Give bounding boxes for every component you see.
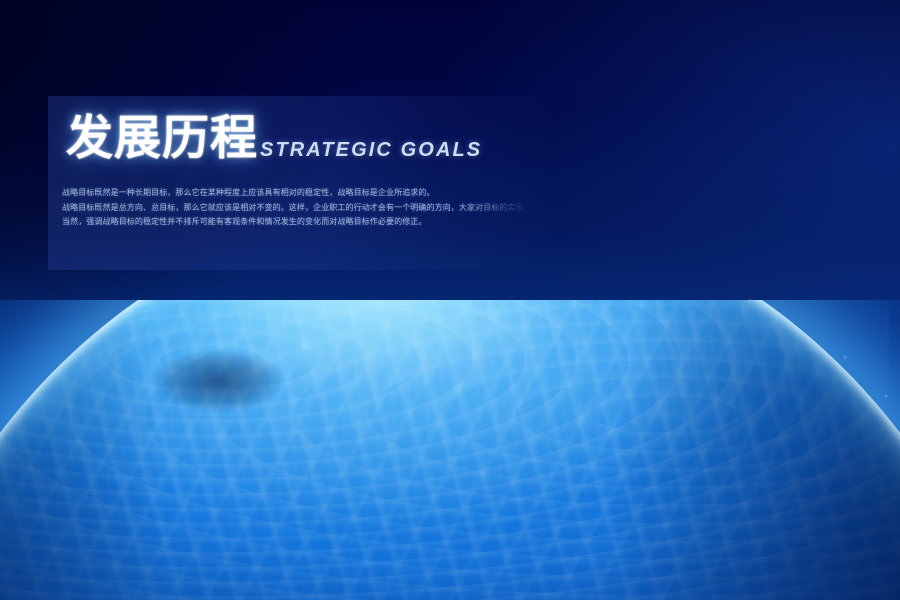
body-copy: 战略目标既然是一种长期目标，那么它在某种程度上应该具有相对的稳定性，战略目标是企… bbox=[62, 186, 532, 230]
earth-sphere bbox=[0, 300, 900, 600]
banner-heading: 发展历程 STRATEGIC GOALS bbox=[66, 116, 482, 163]
body-line: 战略目标既然是总方向、总目标，那么它就应该是相对不变的。这样，企业职工的行动才会… bbox=[62, 201, 532, 216]
body-line: 当然，强调战略目标的稳定性并不排斥可能有客观条件和情况发生的变化而对战略目标作必… bbox=[62, 215, 532, 230]
earth-atmosphere-rim bbox=[0, 300, 900, 600]
earth-illustration bbox=[0, 300, 900, 600]
body-line: 战略目标既然是一种长期目标，那么它在某种程度上应该具有相对的稳定性，战略目标是企… bbox=[62, 186, 532, 201]
page-subtitle: STRATEGIC GOALS bbox=[260, 140, 482, 163]
page-title: 发展历程 bbox=[66, 116, 258, 163]
strategic-goals-banner: 发展历程 STRATEGIC GOALS 战略目标既然是一种长期目标，那么它在某… bbox=[0, 0, 900, 600]
